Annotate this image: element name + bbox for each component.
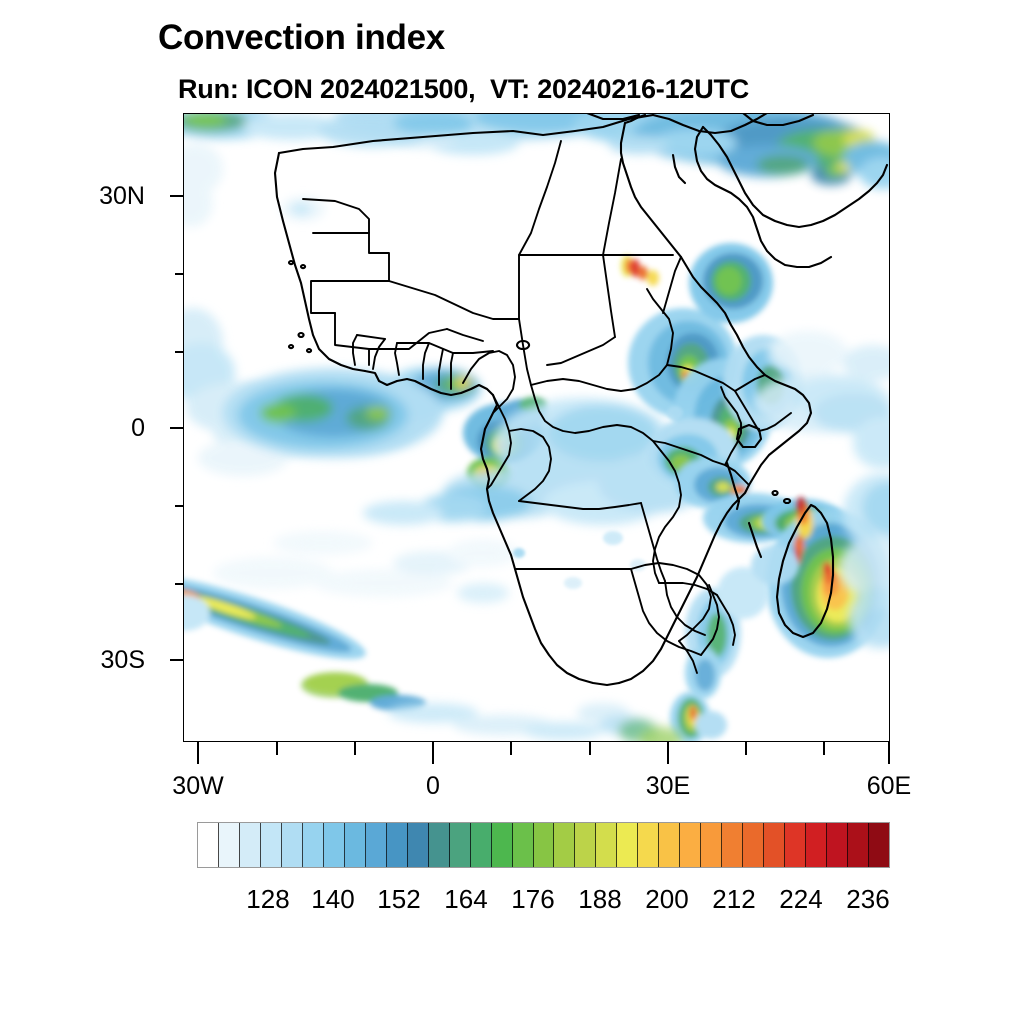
ytick-label-0: 0 [30,414,145,443]
colorbar-cell [764,823,785,867]
colorbar-cell [617,823,638,867]
colorbar-cell [743,823,764,867]
colorbar-cell [722,823,743,867]
colorbar-cell [848,823,869,867]
colorbar-cell [429,823,450,867]
colorbar-cell [303,823,324,867]
colorbar-cell [554,823,575,867]
colorbar-cell [575,823,596,867]
xtick-10e [510,742,512,755]
xtick-30e [667,742,669,764]
xtick-60e [888,742,890,764]
colorbar-cell [345,823,366,867]
xtick-20w [276,742,278,755]
colorbar-cell [471,823,492,867]
xtick-label-30w: 30W [138,772,258,801]
ytick-20s [175,583,183,585]
colorbar-cell [198,823,219,867]
map-svg [183,113,890,742]
colorbar-cell [450,823,471,867]
xtick-0 [432,742,434,764]
colorbar-cell [659,823,680,867]
xtick-label-0: 0 [373,772,493,801]
colorbar-cell [366,823,387,867]
colorbar-cell [534,823,555,867]
colorbar-label-236: 236 [808,884,928,915]
xtick-label-60e: 60E [829,772,949,801]
colorbar-cell [701,823,722,867]
colorbar-cell [827,823,848,867]
page-subtitle: Run: ICON 2024021500, VT: 20240216-12UTC [178,74,749,105]
ytick-20n [175,273,183,275]
ytick-30s [170,659,183,661]
colorbar-cell [806,823,827,867]
colorbar-cell [387,823,408,867]
ytick-0 [170,427,183,429]
xtick-label-30e: 30E [608,772,728,801]
chart-page: Convection index Run: ICON 2024021500, V… [0,0,1024,1024]
page-title: Convection index [158,18,445,58]
colorbar-cell [240,823,261,867]
colorbar-cell [869,823,889,867]
ytick-10s [175,505,183,507]
ytick-label-30n: 30N [30,182,145,211]
xtick-20e [589,742,591,755]
colorbar-cell [219,823,240,867]
ytick-30n [170,195,183,197]
xtick-10w [354,742,356,755]
colorbar-cell [596,823,617,867]
colorbar-cell [282,823,303,867]
colorbar-cell [638,823,659,867]
xtick-50e [823,742,825,755]
colorbar-cell [324,823,345,867]
colorbar-cell [492,823,513,867]
colorbar-cell [261,823,282,867]
colorbar-cell [408,823,429,867]
colorbar-cell [785,823,806,867]
map-plot-area [183,113,890,742]
ytick-10n [175,351,183,353]
ytick-label-30s: 30S [30,646,145,675]
colorbar-cell [513,823,534,867]
xtick-30w [197,742,199,764]
colorbar-cell [680,823,701,867]
xtick-40e [745,742,747,755]
colorbar[interactable] [197,822,890,868]
